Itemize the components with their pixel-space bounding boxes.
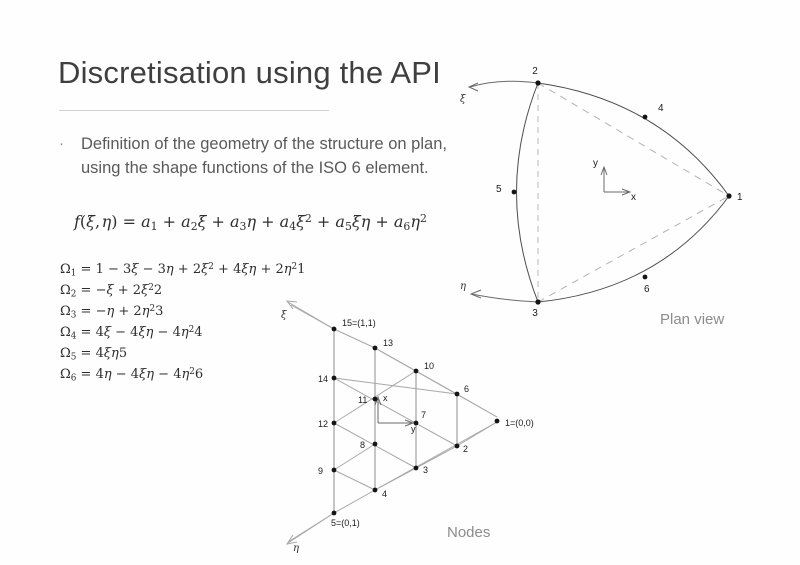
nodes-diag-a-4 [375,348,497,417]
nodes-label-15: 15=(1,1) [342,318,376,328]
plan-view-caption: Plan view [660,311,724,328]
nodes-diag-a-3 [334,470,375,490]
nodes-view-caption: Nodes [447,524,490,541]
nodes-dot-13 [373,346,378,351]
equation-list: Ω1 = 1 − 3ξ − 3η + 2ξ2 + 4ξη + 2η21 Ω2 =… [60,262,305,388]
nodes-dot-12 [332,421,337,426]
nodes-label-4: 4 [382,489,387,499]
nodes-diag-b-2 [334,371,416,423]
plan-chord-1-2 [538,83,729,196]
equation-row: Ω2 = −ξ + 2ξ22 [60,283,305,304]
nodes-diag-a-1 [334,378,457,446]
plan-axis-label-xi: ξ [460,94,466,105]
nodes-dot-7 [414,421,419,426]
plan-node-dot-2 [535,80,540,85]
nodes-dot-14 [332,376,337,381]
plan-x-arrowhead [622,189,630,195]
plan-axis-label-x: x [631,192,636,203]
nodes-axis-label-y: y [411,424,416,434]
plan-eta-axis [472,294,538,302]
plan-axis-label-y: y [593,158,598,169]
nodes-dot-2 [455,444,460,449]
equation-main: f(ξ, η) = a1 + a2ξ + a3η + a4ξ2 + a5ξη +… [74,212,427,233]
bullet-text: Definition of the geometry of the struct… [81,132,449,180]
nodes-dot-10 [414,369,419,374]
nodes-label-11: 11 [358,395,367,405]
nodes-dot-3 [414,466,419,471]
plan-view-figure: 2 1 3 4 5 6 ξ η x y [460,66,743,319]
nodes-diag-b-3 [334,444,375,470]
bullet-marker-icon: · [59,136,64,151]
plan-node-dot-6 [643,275,648,280]
plan-node-label-3: 3 [532,308,538,319]
nodes-axis-label-x: x [383,393,388,403]
plan-node-dot-3 [535,299,540,304]
equation-row: Ω5 = 4ξη5 [60,346,305,367]
nodes-label-9: 9 [318,466,323,476]
slide-canvas: Discretisation using the API · Definitio… [0,0,800,565]
nodes-dot-1 [495,419,500,424]
nodes-diag-b-4 [375,422,497,490]
nodes-y-arrowhead [405,420,413,426]
plan-edge-2-1 [538,83,729,196]
nodes-xi-eta-guide [291,305,497,417]
plan-node-label-1: 1 [737,192,743,203]
plan-chord-1-3 [538,196,729,302]
plan-edge-3-2 [517,83,539,302]
plan-node-label-4: 4 [658,103,664,114]
equation-row: Ω1 = 1 − 3ξ − 3η + 2ξ2 + 4ξη + 2η21 [60,262,305,283]
nodes-dot-4 [373,488,378,493]
plan-node-label-5: 5 [496,184,502,195]
plan-y-arrowhead [601,167,607,175]
equation-row: Ω6 = 4η − 4ξη − 4η26 [60,367,305,388]
nodes-x-arrowhead [375,397,381,405]
plan-xi-axis [470,81,538,87]
nodes-label-2: 2 [463,444,468,454]
nodes-label-8: 8 [360,440,365,450]
plan-xi-arrowhead [469,83,478,91]
nodes-label-10: 10 [424,361,434,371]
title-divider [59,110,329,111]
plan-node-dot-1 [726,193,731,198]
nodes-diag-a-2 [334,423,416,468]
plan-eta-arrowhead [471,290,481,298]
nodes-diag-b-1 [334,378,457,394]
plan-node-dot-5 [512,190,517,195]
nodes-dot-9 [332,468,337,473]
nodes-label-3: 3 [423,465,428,475]
nodes-dot-11 [373,397,378,402]
plan-node-dot-4 [643,115,648,120]
nodes-label-12: 12 [318,419,328,429]
page-title: Discretisation using the API [58,55,441,91]
nodes-label-5: 5=(0,1) [331,518,360,528]
equation-row: Ω3 = −η + 2η23 [60,304,305,325]
nodes-axis-label-eta: η [293,543,299,554]
nodes-dot-6 [455,392,460,397]
bullet-block: · Definition of the geometry of the stru… [59,132,449,180]
nodes-dot-5 [332,511,337,516]
nodes-label-14: 14 [318,374,328,384]
plan-node-label-2: 2 [532,66,538,77]
nodes-label-1: 1=(0,0) [505,418,534,428]
nodes-dot-8 [373,442,378,447]
equation-row: Ω4 = 4ξ − 4ξη − 4η24 [60,325,305,346]
plan-edge-1-3 [538,196,729,302]
nodes-eta-arrowhead [287,535,297,544]
nodes-eta-axis [288,513,334,543]
plan-node-label-6: 6 [644,284,650,295]
nodes-label-7: 7 [421,410,426,420]
nodes-label-6: 6 [464,384,469,394]
nodes-dot-15 [332,327,337,332]
nodes-figure: 15=(1,1) 13 10 6 14 11 7 12 8 2 9 3 4 5=… [281,301,534,554]
nodes-label-13: 13 [383,338,393,348]
plan-axis-label-eta: η [460,281,466,292]
